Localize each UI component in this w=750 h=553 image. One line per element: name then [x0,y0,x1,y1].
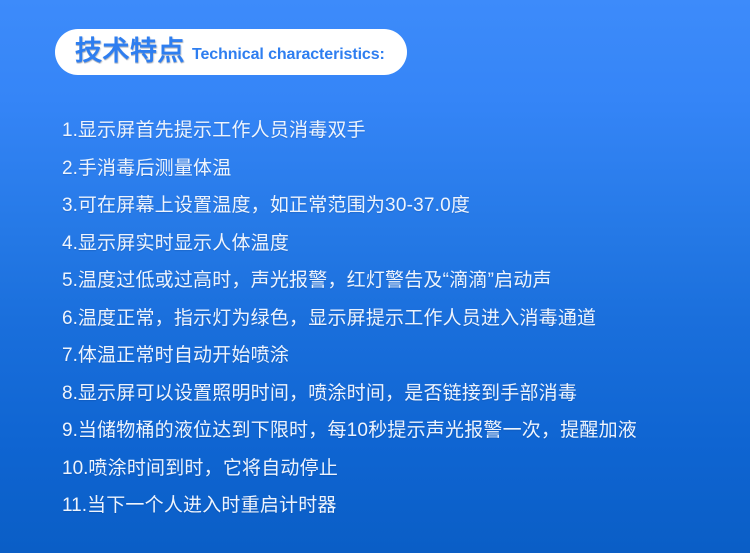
list-item: 9.当储物桶的液位达到下限时，每10秒提示声光报警一次，提醒加液 [62,412,732,450]
list-item: 11.当下一个人进入时重启计时器 [62,487,732,525]
list-item: 7.体温正常时自动开始喷涂 [62,337,732,375]
feature-list: 1.显示屏首先提示工作人员消毒双手 2.手消毒后测量体温 3.可在屏幕上设置温度… [62,112,732,525]
list-item-index: 8. [62,383,78,404]
list-item-index: 10. [62,458,88,479]
list-item-index: 4. [62,233,78,254]
list-item-label: 显示屏实时显示人体温度 [78,233,289,254]
list-item-index: 3. [62,195,78,216]
list-item-label: 当储物桶的液位达到下限时，每10秒提示声光报警一次，提醒加液 [78,420,637,441]
list-item-label: 温度过低或过高时，声光报警，红灯警告及“滴滴”启动声 [78,270,552,291]
list-item-label: 喷涂时间到时，它将自动停止 [88,458,338,479]
list-item-label: 显示屏首先提示工作人员消毒双手 [78,120,366,141]
section-header-pill: 技术特点 Technical characteristics: [55,29,407,75]
list-item-index: 2. [62,158,78,179]
list-item: 1.显示屏首先提示工作人员消毒双手 [62,112,732,150]
list-item: 3.可在屏幕上设置温度，如正常范围为30-37.0度 [62,187,732,225]
list-item: 8.显示屏可以设置照明时间，喷涂时间，是否链接到手部消毒 [62,375,732,413]
page-title-cn: 技术特点 [75,38,185,65]
list-item-index: 5. [62,270,78,291]
list-item-label: 体温正常时自动开始喷涂 [78,345,289,366]
list-item-label: 温度正常，指示灯为绿色，显示屏提示工作人员进入消毒通道 [78,308,596,329]
list-item: 10.喷涂时间到时，它将自动停止 [62,450,732,488]
list-item: 2.手消毒后测量体温 [62,150,732,188]
list-item-index: 7. [62,345,78,366]
list-item: 6.温度正常，指示灯为绿色，显示屏提示工作人员进入消毒通道 [62,300,732,338]
list-item-label: 可在屏幕上设置温度，如正常范围为30-37.0度 [78,195,470,216]
list-item-label: 手消毒后测量体温 [78,158,232,179]
list-item-index: 9. [62,420,78,441]
list-item-label: 显示屏可以设置照明时间，喷涂时间，是否链接到手部消毒 [78,383,577,404]
list-item-index: 6. [62,308,78,329]
slide-root: 技术特点 Technical characteristics: 1.显示屏首先提… [0,0,750,553]
list-item-index: 1. [62,120,78,141]
list-item: 4.显示屏实时显示人体温度 [62,225,732,263]
list-item: 5.温度过低或过高时，声光报警，红灯警告及“滴滴”启动声 [62,262,732,300]
page-title-en: Technical characteristics: [192,46,385,64]
list-item-label: 当下一个人进入时重启计时器 [87,495,337,516]
list-item-index: 11. [62,495,87,516]
